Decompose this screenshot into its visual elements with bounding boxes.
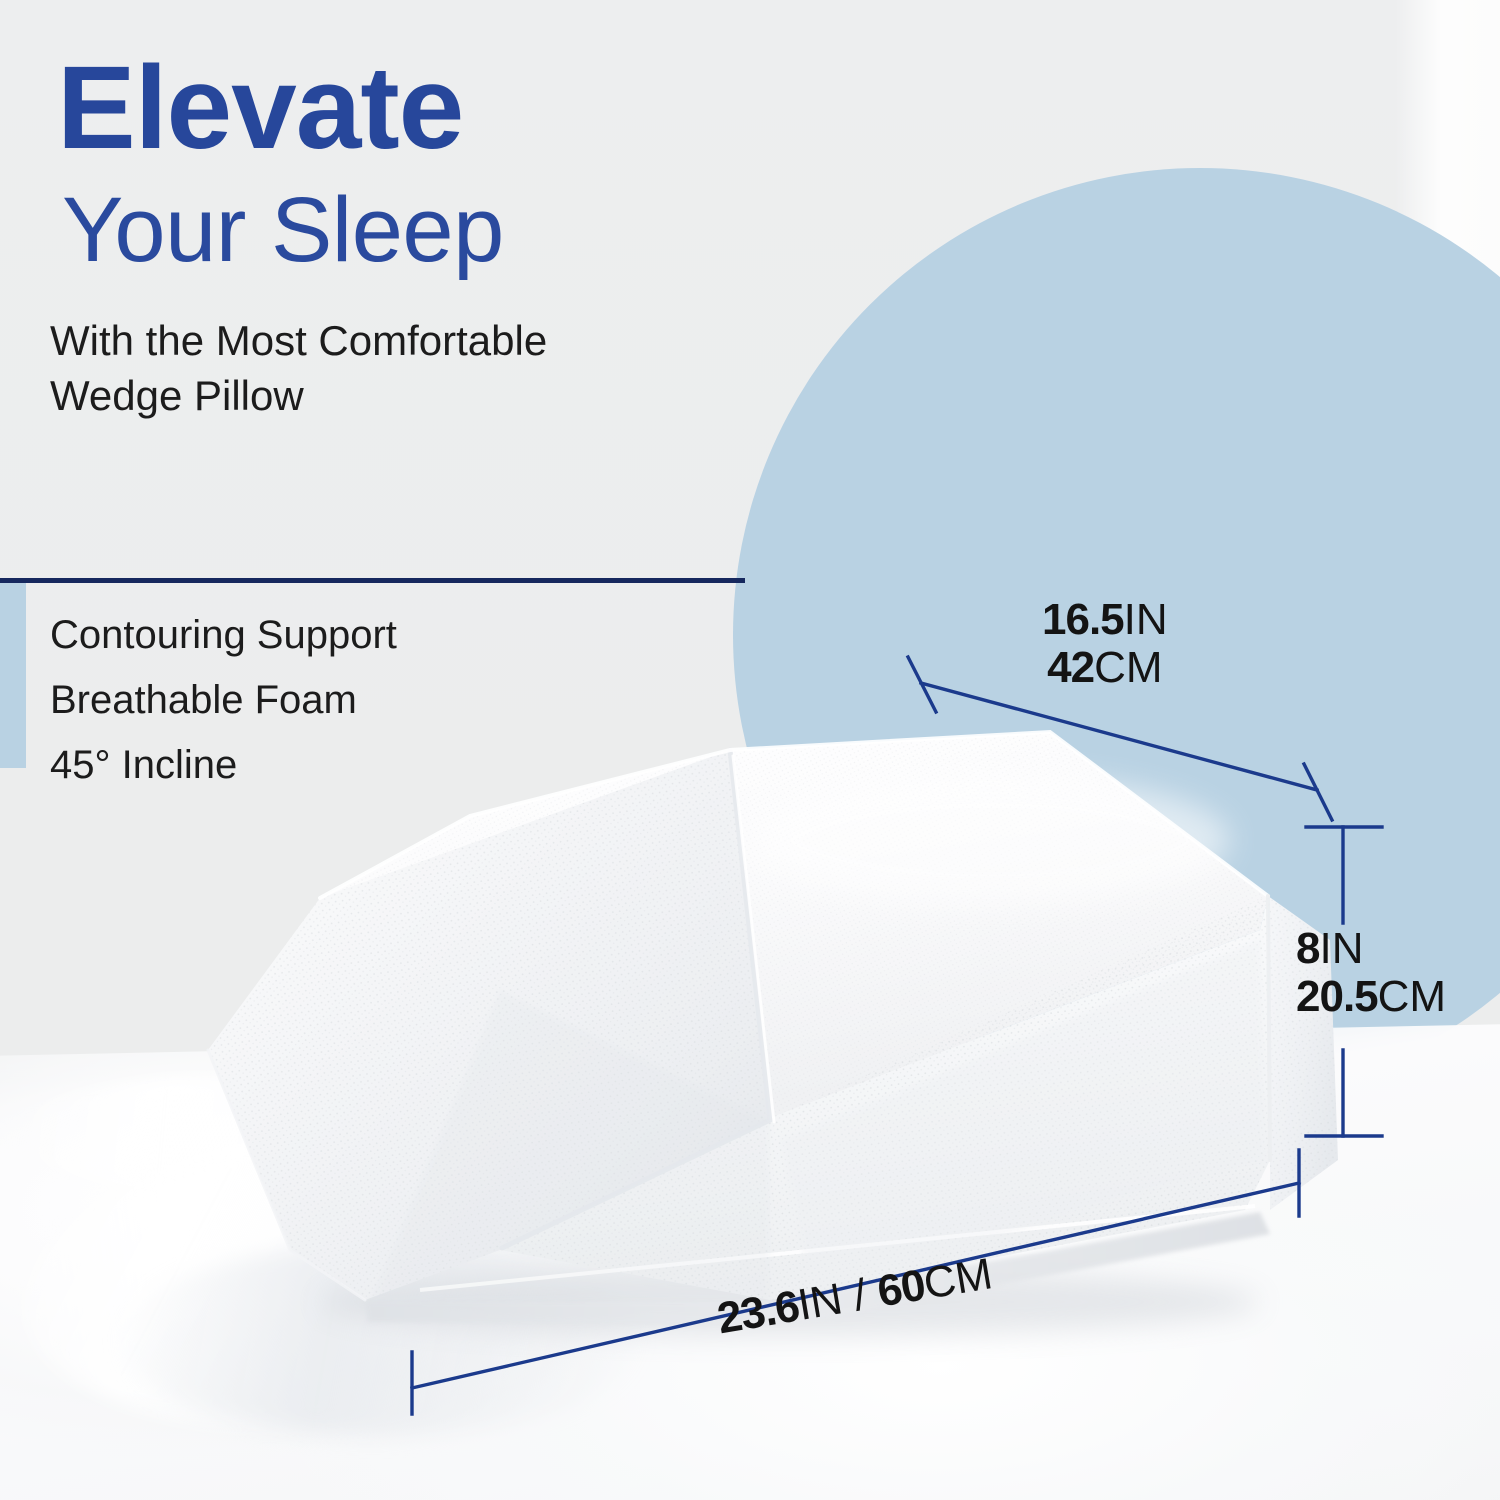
pillow-top-highlight xyxy=(750,774,1230,906)
wedge-pillow-image xyxy=(170,690,1350,1330)
headline: Elevate xyxy=(57,48,463,168)
width-metric-value: 60 xyxy=(874,1260,928,1316)
feature-accent-bar xyxy=(0,583,26,768)
depth-metric-value: 42 xyxy=(1047,643,1094,692)
product-infographic: Elevate Your Sleep With the Most Comfort… xyxy=(0,0,1500,1500)
height-imperial-value: 8 xyxy=(1296,924,1319,973)
section-divider xyxy=(0,578,745,583)
depth-imperial-value: 16.5 xyxy=(1042,595,1124,644)
subheadline: Your Sleep xyxy=(62,182,504,279)
tagline: With the Most Comfortable Wedge Pillow xyxy=(50,313,547,424)
tagline-line-2: Wedge Pillow xyxy=(50,368,547,423)
depth-imperial-unit: IN xyxy=(1124,595,1168,644)
height-metric-value: 20.5 xyxy=(1296,972,1378,1021)
depth-dimension-label: 16.5IN 42CM xyxy=(1042,596,1168,691)
tagline-line-1: With the Most Comfortable xyxy=(50,313,547,368)
height-metric-unit: CM xyxy=(1378,972,1446,1021)
height-imperial-unit: IN xyxy=(1319,924,1363,973)
height-dimension-label: 8IN 20.5CM xyxy=(1296,925,1446,1020)
feature-item: Contouring Support xyxy=(50,603,397,668)
depth-metric-unit: CM xyxy=(1094,643,1162,692)
width-imperial-unit: IN xyxy=(794,1274,845,1330)
